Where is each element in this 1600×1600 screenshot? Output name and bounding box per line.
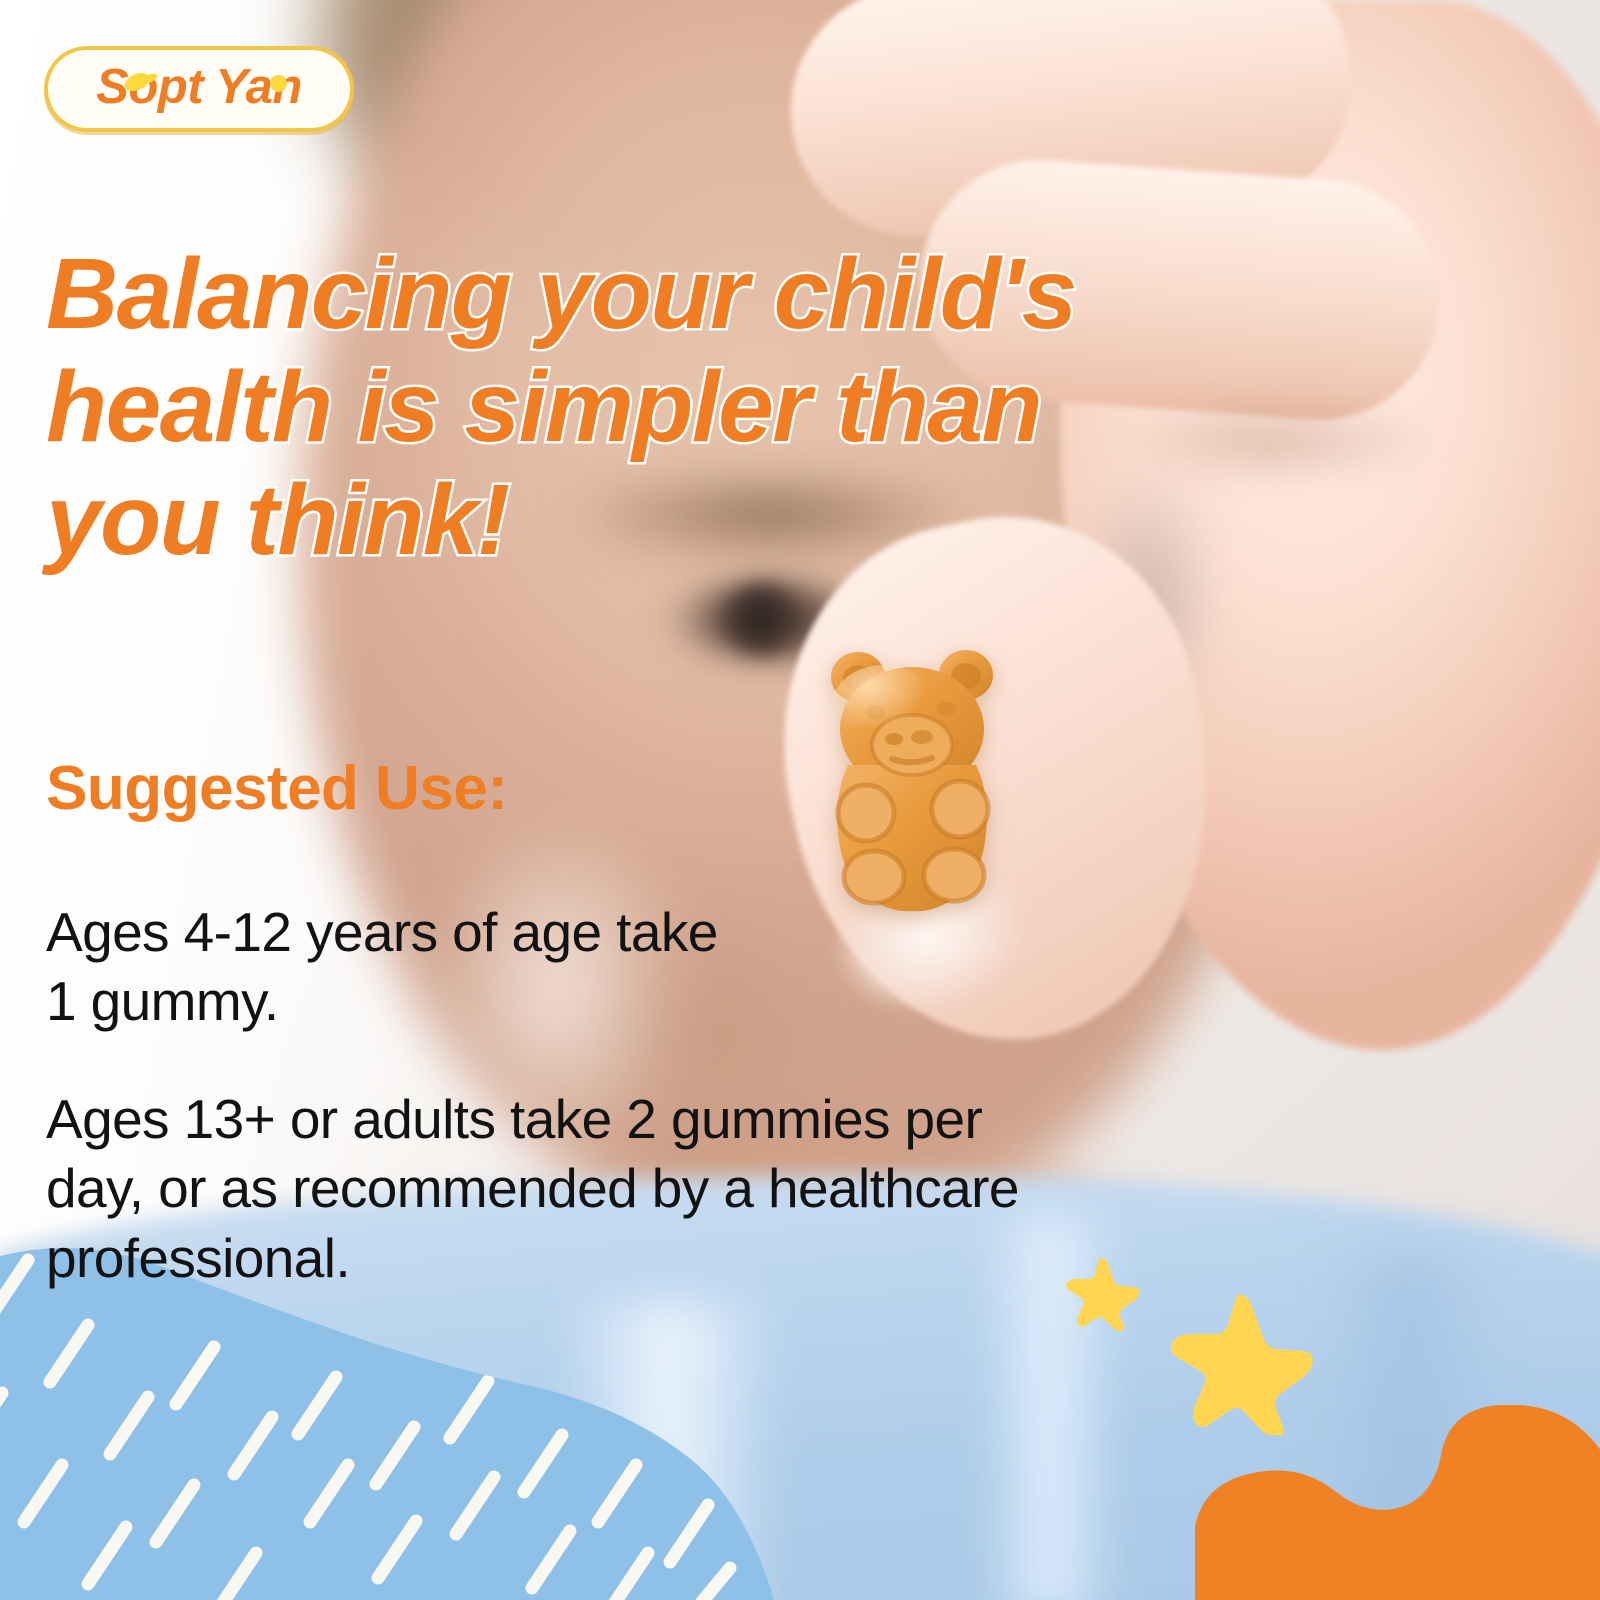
dosage-children-text: Ages 4-12 years of age take 1 gummy. (46, 898, 746, 1037)
brand-logo[interactable]: Sopt Yan (44, 46, 354, 132)
dosage-adults-text: Ages 13+ or adults take 2 gummies per da… (46, 1085, 1076, 1293)
page-title: Balancing your child's health is simpler… (46, 238, 1156, 577)
logo-dot-icon (270, 75, 287, 92)
gummy-bear-icon (818, 645, 1008, 915)
promo-graphic: Sopt Yan Balancing your child's health i… (0, 0, 1600, 1600)
suggested-use-heading: Suggested Use: (46, 753, 508, 824)
child-hand (760, 0, 1600, 1180)
star-icon-large (1165, 1290, 1315, 1435)
